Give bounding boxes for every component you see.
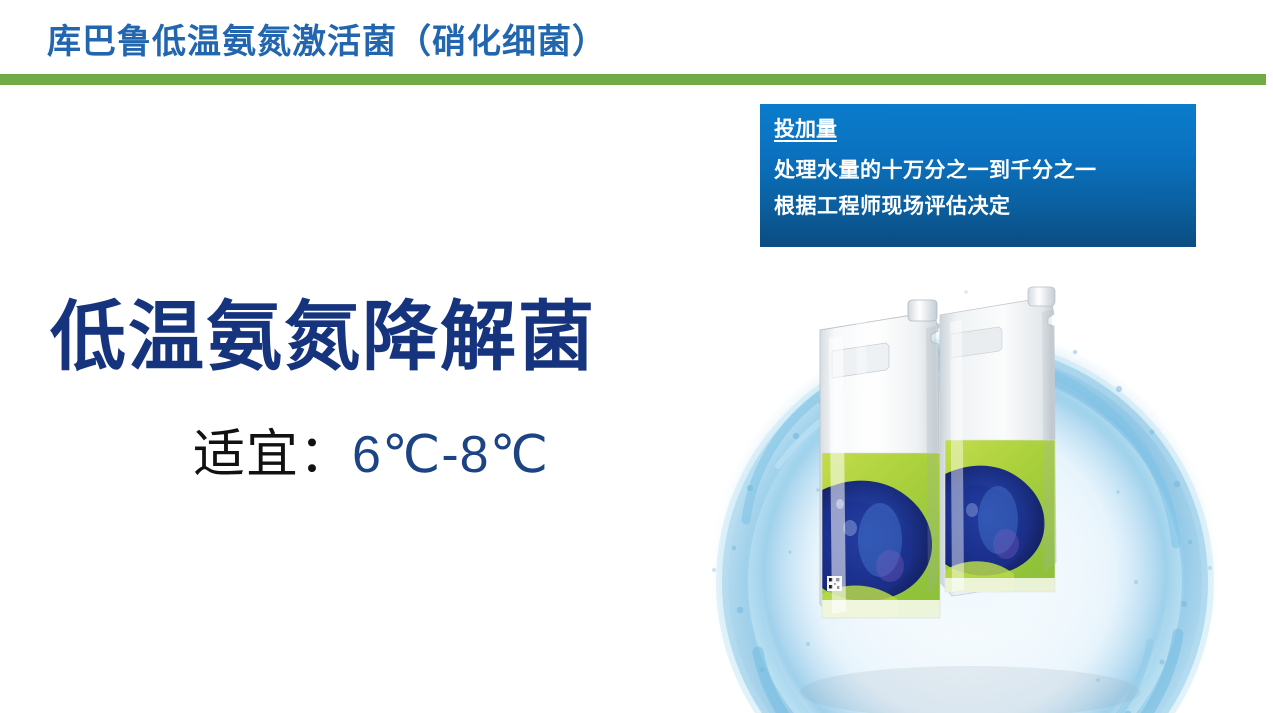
title-divider-rule bbox=[0, 74, 1266, 85]
temperature-label: 适宜： bbox=[193, 426, 352, 484]
dosage-callout-box: 投加量 处理水量的十万分之一到千分之一 根据工程师现场评估决定 bbox=[760, 104, 1196, 247]
page-title: 库巴鲁低温氨氮激活菌（硝化细菌） bbox=[47, 22, 607, 63]
dosage-line-1: 处理水量的十万分之一到千分之一 bbox=[774, 153, 1196, 189]
product-can-front bbox=[820, 300, 940, 618]
product-can-back bbox=[940, 287, 1056, 596]
product-photo: 库巴鲁 氨氮达标 激活菌201 净含量：10kg 执行标准： Q/XXXX 00… bbox=[650, 252, 1273, 713]
main-headline: 低温氨氮降解菌 bbox=[50, 296, 596, 380]
can-back-cap bbox=[1028, 287, 1055, 306]
slide-root: 库巴鲁低温氨氮激活菌（硝化细菌） 投加量 处理水量的十万分之一到千分之一 根据工… bbox=[0, 0, 1273, 713]
dosage-line-2: 根据工程师现场评估决定 bbox=[774, 189, 1196, 225]
temperature-range-line: 适宜：6℃-8℃ bbox=[193, 424, 549, 486]
dosage-heading: 投加量 bbox=[774, 118, 837, 141]
can-front-cap bbox=[908, 300, 937, 321]
product-photo-svg bbox=[650, 252, 1273, 713]
temperature-value: 6℃-8℃ bbox=[352, 426, 549, 484]
